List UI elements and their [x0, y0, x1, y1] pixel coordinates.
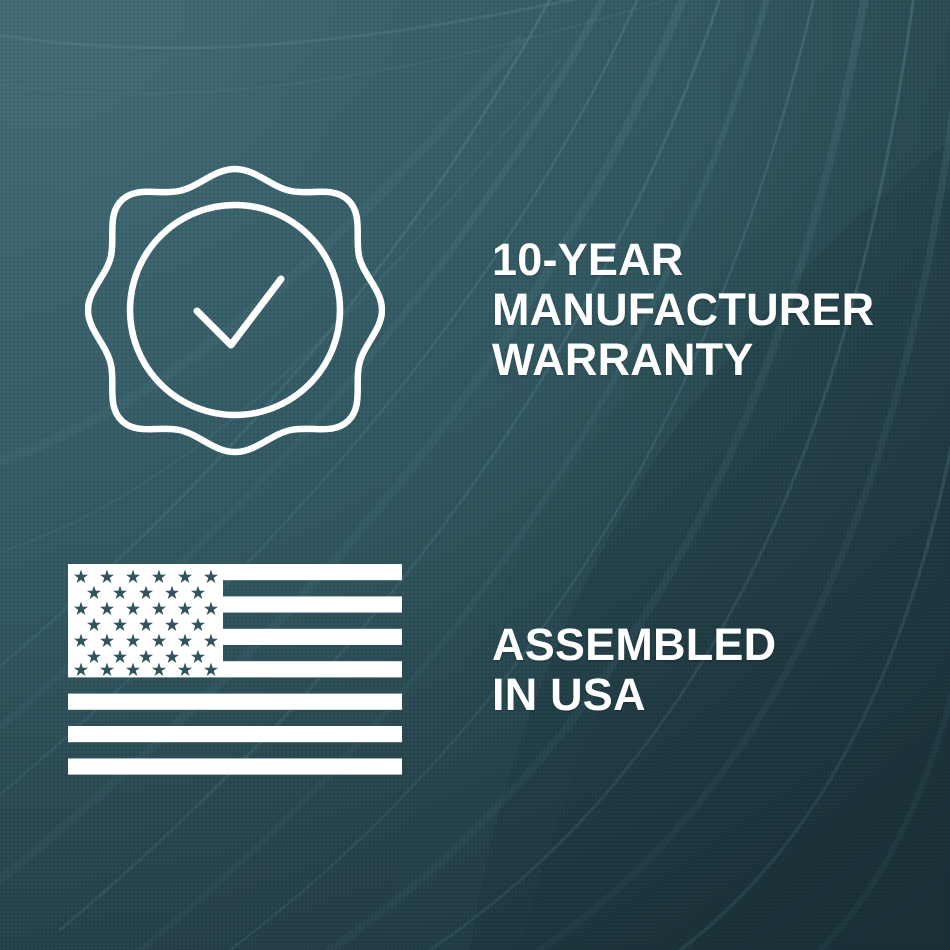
flag-icon-cell [0, 564, 470, 776]
badge-check-icon [85, 160, 385, 460]
feature-assembled-in-usa: ASSEMBLED IN USA [0, 520, 950, 820]
warranty-line-1: 10-YEAR [492, 235, 950, 285]
feature-warranty: 10-YEAR MANUFACTURER WARRANTY [0, 140, 950, 480]
usa-flag-icon [68, 564, 402, 776]
flag-canton [68, 564, 223, 677]
usa-line-1: ASSEMBLED [492, 620, 950, 670]
promo-graphic: 10-YEAR MANUFACTURER WARRANTY [0, 0, 950, 950]
badge-checkmark-icon [197, 279, 281, 345]
usa-headline: ASSEMBLED IN USA [492, 620, 950, 720]
usa-text-cell: ASSEMBLED IN USA [470, 620, 950, 720]
warranty-line-2: MANUFACTURER [492, 285, 950, 335]
warranty-headline: 10-YEAR MANUFACTURER WARRANTY [492, 235, 950, 385]
badge-inner-circle [130, 205, 340, 415]
warranty-text-cell: 10-YEAR MANUFACTURER WARRANTY [470, 235, 950, 385]
warranty-icon-cell [0, 160, 470, 460]
usa-line-2: IN USA [492, 670, 950, 720]
warranty-line-3: WARRANTY [492, 335, 950, 385]
